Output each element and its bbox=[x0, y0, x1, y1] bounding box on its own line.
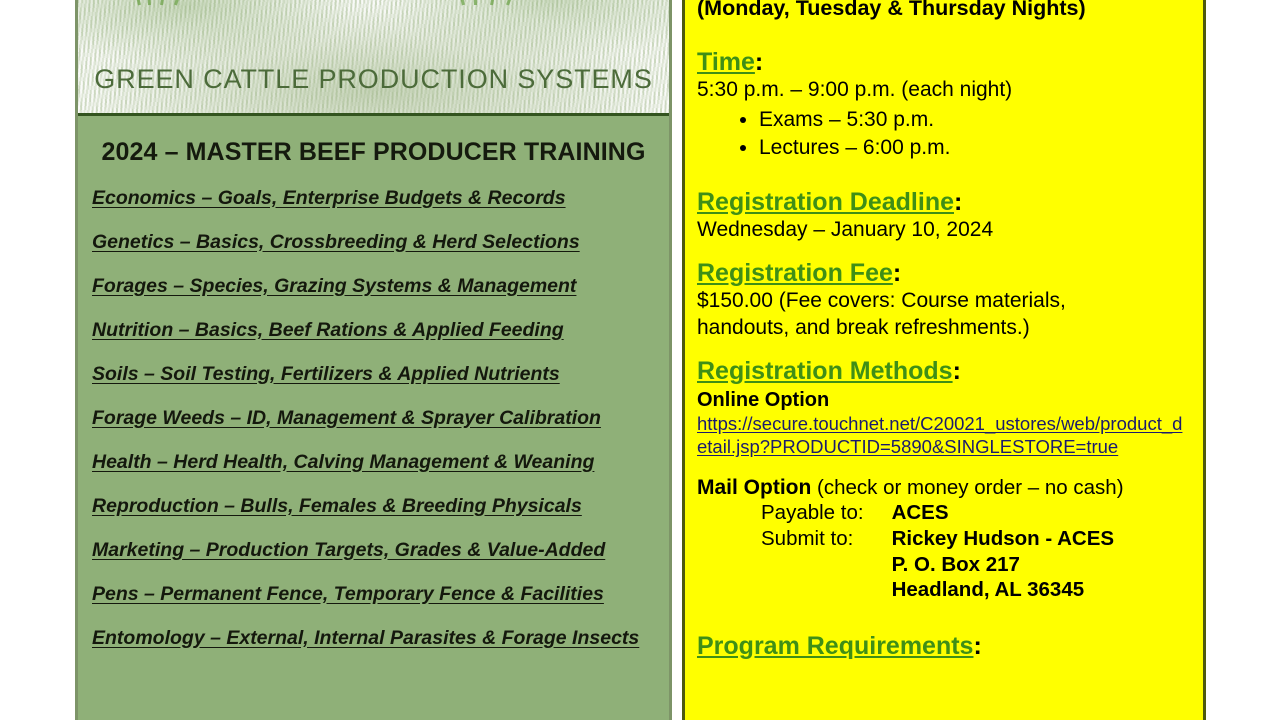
list-item: Pens – Permanent Fence, Temporary Fence … bbox=[92, 572, 669, 616]
list-item: Exams – 5:30 p.m. bbox=[759, 106, 1191, 134]
mail-row-value: Headland, AL 36345 bbox=[892, 578, 1115, 604]
time-block: Time: 5:30 p.m. – 9:00 p.m. (each night)… bbox=[697, 48, 1191, 161]
online-option-label: Online Option bbox=[697, 388, 1191, 412]
masthead-banner: GREEN CATTLE PRODUCTION SYSTEMS bbox=[78, 0, 669, 116]
deadline-value: Wednesday – January 10, 2024 bbox=[697, 217, 1191, 243]
list-item: Health – Herd Health, Calving Management… bbox=[92, 440, 669, 484]
methods-heading: Registration Methods: bbox=[697, 357, 1191, 386]
time-heading-colon: : bbox=[755, 48, 763, 76]
list-item: Economics – Goals, Enterprise Budgets & … bbox=[92, 176, 669, 220]
mail-row-label: Submit to: bbox=[761, 527, 892, 553]
list-item: Entomology – External, Internal Parasite… bbox=[92, 616, 669, 660]
mail-row-label: Payable to: bbox=[761, 501, 892, 527]
fee-line-1: $150.00 (Fee covers: Course materials, bbox=[697, 288, 1191, 314]
grass-icon bbox=[174, 0, 188, 5]
course-topic-list: Economics – Goals, Enterprise Budgets & … bbox=[78, 176, 669, 660]
list-item: Lectures – 6:00 p.m. bbox=[759, 134, 1191, 162]
time-bullet-list: Exams – 5:30 p.m. Lectures – 6:00 p.m. bbox=[697, 106, 1191, 162]
grass-icon bbox=[144, 0, 151, 5]
pasture-photo bbox=[78, 0, 669, 113]
list-item: Reproduction – Bulls, Females & Breeding… bbox=[92, 484, 669, 528]
table-row: Submit to: Rickey Hudson - ACES bbox=[761, 527, 1114, 553]
list-item: Marketing – Production Targets, Grades &… bbox=[92, 528, 669, 572]
fee-line-2: handouts, and break refreshments.) bbox=[697, 315, 1191, 341]
course-column: GREEN CATTLE PRODUCTION SYSTEMS 2024 – M… bbox=[75, 0, 672, 720]
time-range: 5:30 p.m. – 9:00 p.m. (each night) bbox=[697, 77, 1191, 103]
mail-option-label: Mail Option bbox=[697, 476, 811, 499]
list-item: Soils – Soil Testing, Fertilizers & Appl… bbox=[92, 352, 669, 396]
deadline-block: Registration Deadline: Wednesday – Janua… bbox=[697, 188, 1191, 243]
deadline-heading-colon: : bbox=[954, 188, 962, 216]
mail-address-table: Payable to: ACES Submit to: Rickey Hudso… bbox=[761, 501, 1114, 603]
program-requirements-heading-text: Program Requirements bbox=[697, 632, 973, 660]
time-heading-text: Time bbox=[697, 48, 755, 76]
list-item: Forage Weeds – ID, Management & Sprayer … bbox=[92, 396, 669, 440]
mail-option-note: (check or money order – no cash) bbox=[811, 476, 1123, 499]
grass-icon bbox=[128, 0, 141, 5]
program-requirements-heading: Program Requirements: bbox=[697, 632, 1191, 661]
list-item: Nutrition – Basics, Beef Rations & Appli… bbox=[92, 308, 669, 352]
methods-heading-text: Registration Methods bbox=[697, 357, 953, 385]
table-row: Payable to: ACES bbox=[761, 501, 1114, 527]
mail-row-label bbox=[761, 578, 892, 604]
table-row: P. O. Box 217 bbox=[761, 553, 1114, 579]
dates-block: February 1st, 5th, 6th, 8th, 12th, 15th,… bbox=[697, 0, 1191, 22]
table-row: Headland, AL 36345 bbox=[761, 578, 1114, 604]
methods-heading-colon: : bbox=[953, 357, 961, 385]
organization-title: GREEN CATTLE PRODUCTION SYSTEMS bbox=[78, 64, 669, 95]
course-panel: 2024 – MASTER BEEF PRODUCER TRAINING Eco… bbox=[78, 116, 669, 720]
list-item: Genetics – Basics, Crossbreeding & Herd … bbox=[92, 220, 669, 264]
program-requirements-colon: : bbox=[973, 632, 981, 660]
course-panel-title: 2024 – MASTER BEEF PRODUCER TRAINING bbox=[78, 138, 669, 167]
flyer-page: GREEN CATTLE PRODUCTION SYSTEMS 2024 – M… bbox=[0, 0, 1279, 720]
info-column: February 1st, 5th, 6th, 8th, 12th, 15th,… bbox=[682, 0, 1206, 720]
grass-icon bbox=[160, 0, 170, 5]
methods-block: Registration Methods: Online Option http… bbox=[697, 357, 1191, 604]
deadline-heading: Registration Deadline: bbox=[697, 188, 1191, 217]
mail-row-value: P. O. Box 217 bbox=[892, 553, 1115, 579]
grass-icon bbox=[490, 0, 501, 5]
mail-option-line: Mail Option (check or money order – no c… bbox=[697, 475, 1191, 501]
fee-heading-colon: : bbox=[893, 259, 901, 287]
grass-icon bbox=[472, 0, 477, 5]
grass-icon bbox=[453, 0, 465, 5]
mail-row-value: ACES bbox=[892, 501, 1115, 527]
fee-heading: Registration Fee: bbox=[697, 259, 1191, 288]
grass-icon bbox=[506, 0, 521, 6]
registration-url-link[interactable]: https://secure.touchnet.net/C20021_ustor… bbox=[697, 413, 1191, 459]
mail-row-label bbox=[761, 553, 892, 579]
list-item: Forages – Species, Grazing Systems & Man… bbox=[92, 264, 669, 308]
fee-block: Registration Fee: $150.00 (Fee covers: C… bbox=[697, 259, 1191, 341]
fee-heading-text: Registration Fee bbox=[697, 259, 893, 287]
dates-weekdays: (Monday, Tuesday & Thursday Nights) bbox=[697, 0, 1191, 22]
time-heading: Time: bbox=[697, 48, 1191, 77]
deadline-heading-text: Registration Deadline bbox=[697, 188, 954, 216]
mail-row-value: Rickey Hudson - ACES bbox=[892, 527, 1115, 553]
